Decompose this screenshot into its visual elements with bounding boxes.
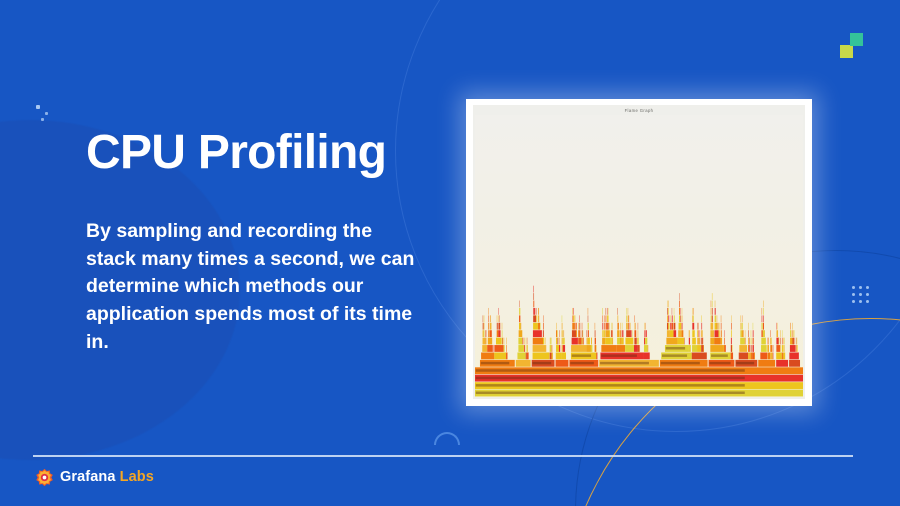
decor-dot-grid bbox=[852, 286, 873, 307]
decor-dot bbox=[41, 118, 44, 121]
grafana-logo-icon bbox=[35, 468, 54, 487]
decor-dot bbox=[36, 105, 40, 109]
background-mini-arch-icon bbox=[434, 432, 460, 445]
brand-wordmark: Grafana Labs bbox=[60, 470, 154, 485]
decor-square-teal bbox=[850, 33, 863, 46]
footer-divider bbox=[33, 455, 853, 457]
slide-body-text: By sampling and recording the stack many… bbox=[86, 218, 416, 356]
flame-graph-card: Flame Graph bbox=[466, 99, 812, 406]
flame-graph-panel: Flame Graph bbox=[473, 105, 805, 399]
flame-graph-plot[interactable] bbox=[475, 115, 803, 397]
decor-square-lime bbox=[840, 45, 853, 58]
flame-graph-svg bbox=[475, 115, 803, 397]
decor-dot bbox=[45, 112, 48, 115]
footer-brand: Grafana Labs bbox=[35, 468, 154, 487]
page-title: CPU Profiling bbox=[86, 128, 386, 178]
flame-graph-title: Flame Graph bbox=[473, 108, 805, 113]
slide-root: CPU Profiling By sampling and recording … bbox=[0, 0, 900, 506]
brand-labs: Labs bbox=[116, 469, 154, 485]
brand-grafana: Grafana bbox=[60, 469, 116, 485]
